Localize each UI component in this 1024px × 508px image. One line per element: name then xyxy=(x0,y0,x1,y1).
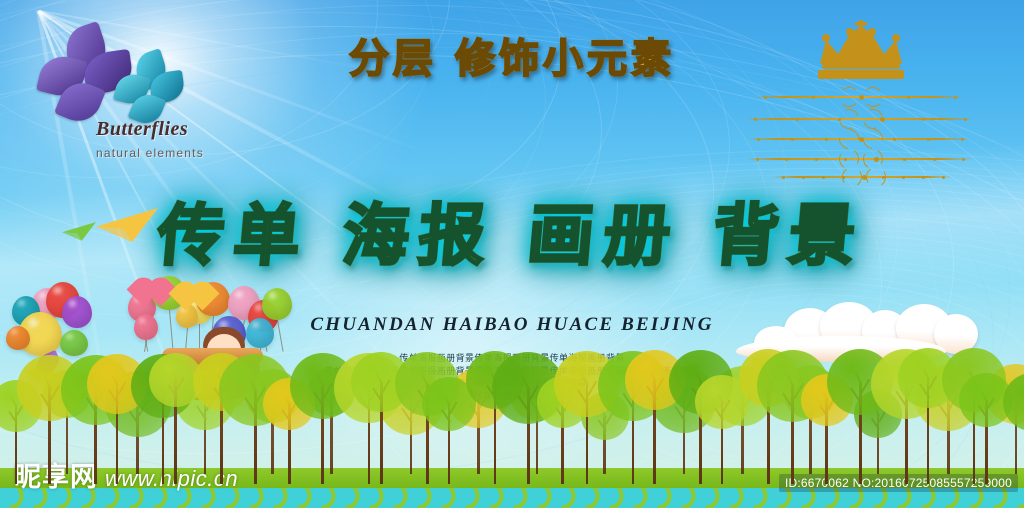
ornament-divider xyxy=(746,152,972,166)
ornament-divider xyxy=(747,132,971,146)
ornament-divider xyxy=(744,112,974,126)
ornament-dot xyxy=(961,138,964,141)
logo-tagline: natural elements xyxy=(96,146,204,160)
ornament-dot xyxy=(902,176,905,179)
ornament-dot xyxy=(893,138,896,141)
ornament-dot xyxy=(954,96,957,99)
ornament-dot xyxy=(754,118,757,121)
ornament-dot xyxy=(942,176,945,179)
ornament-dot xyxy=(756,158,759,161)
poster-canvas: Butterflies natural elements 分层 修饰小元素 传单… xyxy=(0,0,1024,508)
ornament-dot xyxy=(764,96,767,99)
balloon xyxy=(6,326,30,350)
ornament-dot xyxy=(962,158,965,161)
ornament-dot xyxy=(812,96,815,99)
balloon xyxy=(134,314,158,340)
ornament-dot xyxy=(802,176,805,179)
ornament-dot xyxy=(825,138,828,141)
ornament-dot xyxy=(922,176,925,179)
balloon xyxy=(262,288,292,320)
ornament-dot xyxy=(796,118,799,121)
ornament-dot xyxy=(791,138,794,141)
crown-ornament-block xyxy=(744,18,974,168)
balloon xyxy=(60,330,88,356)
paper-plane-icon xyxy=(96,208,158,242)
ornament-dot xyxy=(822,176,825,179)
tree xyxy=(1003,373,1024,484)
ornament-dot xyxy=(907,96,910,99)
tree-crown xyxy=(1003,373,1024,431)
ornament-dot xyxy=(782,176,785,179)
ornament-dot xyxy=(933,158,936,161)
ornament-divider xyxy=(754,90,964,104)
ornament-dot xyxy=(903,158,906,161)
ornament-dot xyxy=(927,138,930,141)
crown-icon xyxy=(806,18,916,88)
ornament-swirl xyxy=(863,87,883,107)
balloon xyxy=(62,296,92,328)
logo-name: Butterflies xyxy=(96,118,188,141)
ornament-dot xyxy=(964,118,967,121)
ornament-dot xyxy=(922,118,925,121)
ornament-swirl xyxy=(839,87,859,107)
ornament-dot xyxy=(815,158,818,161)
ornament-dot xyxy=(757,138,760,141)
paper-plane-icon xyxy=(62,222,96,241)
